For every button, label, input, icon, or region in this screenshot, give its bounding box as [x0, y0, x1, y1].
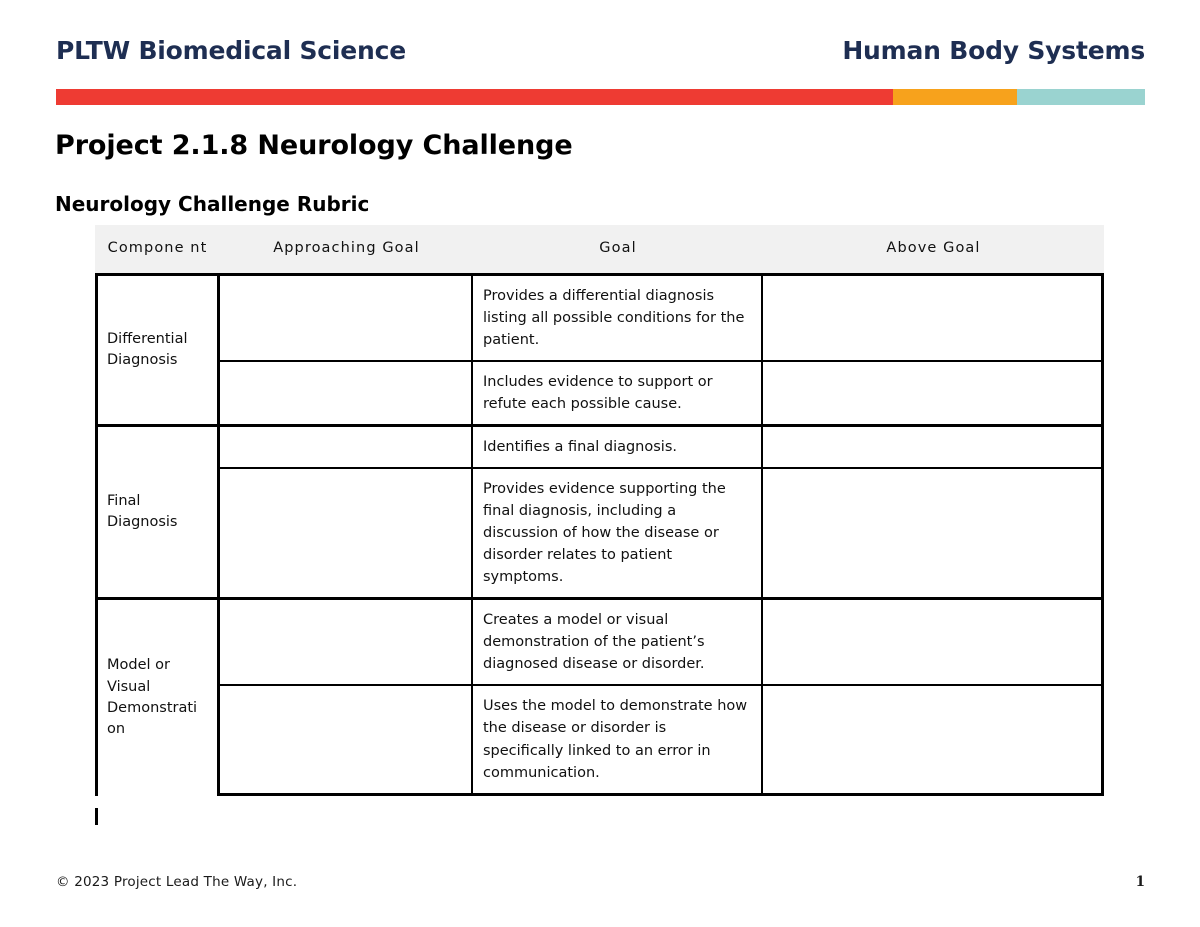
color-bar-segment-teal — [1017, 89, 1145, 105]
rubric-section: Model or Visual Demonstrati on Creates a… — [98, 600, 1104, 795]
cell-approaching — [220, 686, 473, 792]
table-row: Provides evidence supporting the final d… — [220, 469, 1104, 597]
table-row: Uses the model to demonstrate how the di… — [220, 686, 1104, 795]
header-title-row: PLTW Biomedical Science Human Body Syste… — [56, 36, 1145, 65]
cell-above-goal — [763, 600, 1104, 684]
section-title: Neurology Challenge Rubric — [55, 192, 369, 216]
cell-above-goal — [763, 276, 1104, 360]
criteria-rows: Provides a differential diagnosis listin… — [220, 276, 1104, 424]
rubric-section: Final Diagnosis Identifies a final diagn… — [98, 427, 1104, 600]
cell-approaching — [220, 276, 473, 360]
cell-above-goal — [763, 362, 1104, 424]
cell-approaching — [220, 600, 473, 684]
table-row: Creates a model or visual demonstration … — [220, 600, 1104, 686]
rubric-table: Compone nt Approaching Goal Goal Above G… — [95, 225, 1104, 796]
brand-color-bar — [56, 89, 1145, 105]
column-header-above: Above Goal — [763, 225, 1104, 273]
cell-goal: Provides evidence supporting the final d… — [473, 469, 763, 597]
table-row: Provides a differential diagnosis listin… — [220, 276, 1104, 362]
component-label: Differential Diagnosis — [98, 276, 220, 424]
page-header: PLTW Biomedical Science Human Body Syste… — [0, 0, 1200, 110]
cell-approaching — [220, 427, 473, 467]
unit-title: Human Body Systems — [842, 36, 1145, 65]
color-bar-segment-orange — [893, 89, 1017, 105]
column-header-component: Compone nt — [95, 225, 220, 273]
table-row: Identifies a final diagnosis. — [220, 427, 1104, 469]
table-row: Includes evidence to support or refute e… — [220, 362, 1104, 424]
cell-goal: Identifies a final diagnosis. — [473, 427, 763, 467]
rubric-header-row: Compone nt Approaching Goal Goal Above G… — [95, 225, 1104, 276]
cell-goal: Uses the model to demonstrate how the di… — [473, 686, 763, 792]
copyright-text: © 2023 Project Lead The Way, Inc. — [56, 874, 297, 890]
cell-above-goal — [763, 427, 1104, 467]
course-title: PLTW Biomedical Science — [56, 36, 406, 65]
column-header-goal: Goal — [473, 225, 763, 273]
page-footer: © 2023 Project Lead The Way, Inc. 1 — [56, 874, 1145, 890]
cell-above-goal — [763, 469, 1104, 597]
page-title: Project 2.1.8 Neurology Challenge — [55, 130, 573, 161]
page-number: 1 — [1136, 874, 1145, 890]
rubric-section: Differential Diagnosis Provides a differ… — [98, 276, 1104, 427]
column-header-approaching: Approaching Goal — [220, 225, 473, 273]
color-bar-segment-red — [56, 89, 893, 105]
table-continuation-rule — [95, 808, 98, 825]
criteria-rows: Creates a model or visual demonstration … — [220, 600, 1104, 795]
component-label: Final Diagnosis — [98, 427, 220, 597]
cell-approaching — [220, 362, 473, 424]
component-label: Model or Visual Demonstrati on — [98, 600, 220, 795]
cell-goal: Includes evidence to support or refute e… — [473, 362, 763, 424]
cell-goal: Provides a differential diagnosis listin… — [473, 276, 763, 360]
cell-approaching — [220, 469, 473, 597]
rubric-body: Differential Diagnosis Provides a differ… — [95, 276, 1104, 796]
cell-goal: Creates a model or visual demonstration … — [473, 600, 763, 684]
cell-above-goal — [763, 686, 1104, 792]
criteria-rows: Identifies a final diagnosis. Provides e… — [220, 427, 1104, 597]
